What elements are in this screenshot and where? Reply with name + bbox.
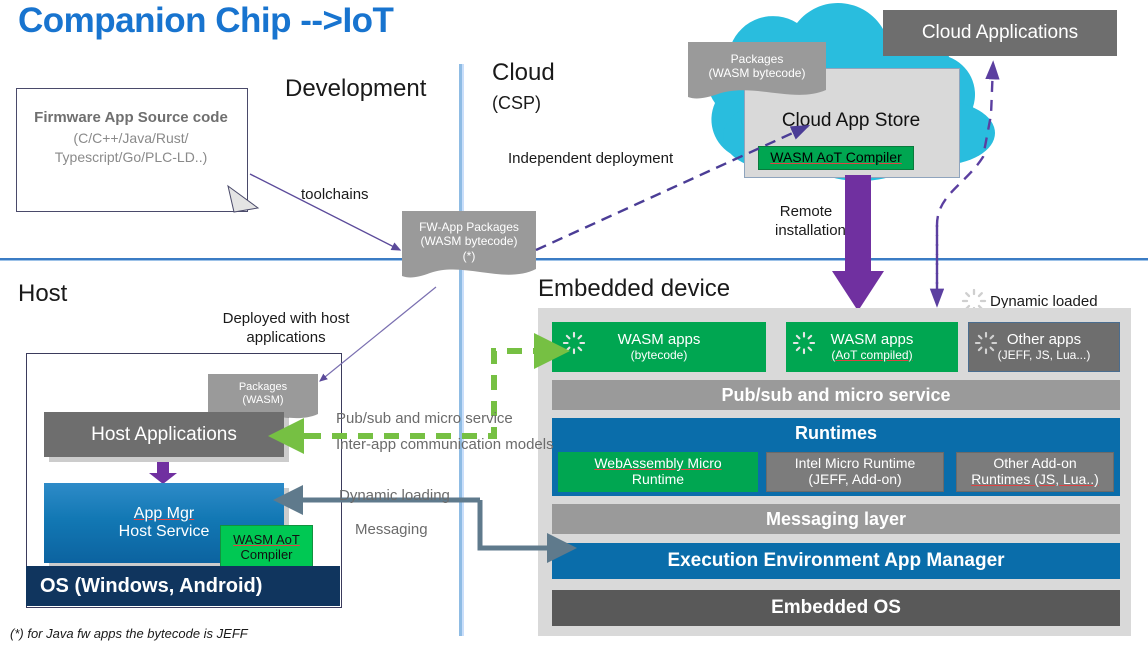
host-applications-label: Host Applications	[91, 424, 237, 445]
source-line-1: (C/C++/Java/Rust/	[16, 129, 246, 148]
embedded-exec-env-bar: Execution Environment App Manager	[552, 543, 1120, 579]
annotation-independent-deployment: Independent deployment	[508, 150, 673, 167]
packages-cloud-line-1: Packages	[688, 52, 826, 66]
host-apps-to-appmgr-arrow	[148, 462, 178, 484]
packages-cloud-callout-text: Packages (WASM bytecode)	[688, 52, 826, 81]
embedded-os-label: Embedded OS	[771, 597, 901, 618]
host-os-label: OS (Windows, Android)	[40, 575, 262, 597]
zone-label-embedded-device: Embedded device	[538, 276, 730, 303]
fw-app-packages-callout-text: FW-App Packages (WASM bytecode) (*)	[402, 220, 536, 263]
host-applications-box: Host Applications	[44, 412, 284, 457]
runtime-webassembly-micro: WebAssembly Micro Runtime	[558, 452, 758, 492]
runtime-0-line-1: WebAssembly Micro	[594, 456, 721, 472]
spinner-icon-app-2	[975, 332, 997, 354]
spinner-icon-app-1	[793, 332, 815, 354]
zone-label-host: Host	[18, 281, 67, 308]
runtime-other-addon: Other Add-on Runtimes (JS, Lua..)	[956, 452, 1114, 492]
fw-packages-line-1: FW-App Packages	[402, 220, 536, 234]
runtime-1-line-2: (JEFF, Add-on)	[808, 472, 901, 488]
device-to-cloud-dashed-arrow	[925, 45, 1015, 310]
embedded-os-bar: Embedded OS	[552, 590, 1120, 626]
embedded-messaging-layer-bar: Messaging layer	[552, 504, 1120, 534]
embedded-app-0-name: WASM apps	[618, 332, 701, 349]
embedded-runtimes-title: Runtimes	[552, 421, 1120, 445]
remote-line-1: Remote	[775, 203, 837, 222]
runtime-2-line-1: Other Add-on	[993, 456, 1076, 472]
app-mgr-line-1: App Mgr	[134, 505, 194, 523]
footnote-text: (*) for Java fw apps the bytecode is JEF…	[10, 626, 248, 641]
embedded-messaging-layer-label: Messaging layer	[766, 509, 906, 529]
source-line-2: Typescript/Go/PLC-LD..)	[16, 148, 246, 167]
host-os-box: OS (Windows, Android)	[26, 566, 340, 606]
zone-label-development: Development	[285, 76, 426, 103]
annotation-dynamic-loading: Dynamic loading	[339, 487, 450, 504]
cloud-applications-label: Cloud Applications	[922, 22, 1078, 43]
runtime-intel-micro: Intel Micro Runtime (JEFF, Add-on)	[766, 452, 944, 492]
annotation-remote-installation: Remote installation	[775, 203, 837, 241]
embedded-pubsub-label: Pub/sub and micro service	[721, 385, 950, 405]
annotation-pubsub-micro-service: Pub/sub and micro service	[336, 410, 513, 427]
remote-installation-arrow	[832, 175, 888, 315]
fw-packages-line-2: (WASM bytecode)	[402, 234, 536, 248]
firmware-source-code-text: Firmware App Source code (C/C++/Java/Rus…	[16, 108, 246, 167]
embedded-app-1-sub: (AoT compiled)	[831, 349, 912, 362]
runtime-1-line-1: Intel Micro Runtime	[795, 456, 916, 472]
runtime-2-line-2: Runtimes (JS, Lua..)	[971, 472, 1099, 488]
embedded-app-0-sub: (bytecode)	[631, 349, 688, 362]
zone-label-cloud-sub: (CSP)	[492, 93, 541, 114]
annotation-toolchains: toolchains	[301, 186, 369, 203]
pubsub-interapp-green-arrows	[282, 336, 572, 446]
embedded-app-2-sub: (JEFF, JS, Lua...)	[998, 349, 1091, 362]
embedded-pubsub-bar: Pub/sub and micro service	[552, 380, 1120, 410]
embedded-app-1-name: WASM apps	[831, 332, 914, 349]
annotation-interapp-communication: Inter-app communication models	[336, 436, 554, 453]
source-heading: Firmware App Source code	[16, 108, 246, 129]
app-mgr-line-2: Host Service	[119, 523, 210, 541]
embedded-exec-env-label: Execution Environment App Manager	[667, 550, 1004, 571]
embedded-app-2-name: Other apps	[1007, 332, 1081, 349]
annotation-messaging: Messaging	[355, 521, 428, 538]
packages-cloud-line-2: (WASM bytecode)	[688, 66, 826, 80]
runtime-0-line-2: Runtime	[632, 472, 684, 488]
page-title: Companion Chip -->IoT	[18, 1, 393, 41]
zone-label-cloud: Cloud	[492, 60, 555, 87]
fw-packages-line-3: (*)	[402, 249, 536, 263]
remote-line-2: installation	[775, 222, 837, 241]
